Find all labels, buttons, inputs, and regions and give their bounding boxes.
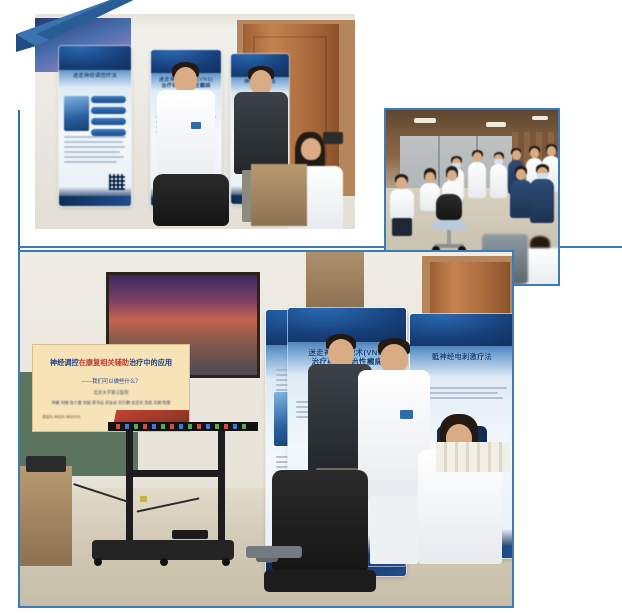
side-desk bbox=[251, 164, 307, 226]
camera-phone bbox=[323, 132, 343, 144]
presentation-slide: 神经调控在康复相关辅助治疗中的应用 ——我们可以做些什么？ 北京大学第三医院 申… bbox=[32, 344, 190, 432]
office-chair-top bbox=[153, 174, 229, 229]
person-standing-3 bbox=[490, 152, 507, 214]
chair-base-foreground bbox=[246, 546, 302, 558]
collage-canvas: 迷走神经调控疗法 迷走神经刺激术(VNS) 治疗药物难治性癫痫 bbox=[0, 0, 622, 613]
person-seated-scrub-2 bbox=[530, 164, 554, 236]
photo-speakers-with-banners: 迷走神经调控疗法 迷走神经刺激术(VNS) 治疗药物难治性癫痫 bbox=[35, 14, 355, 229]
person-seated-left bbox=[390, 174, 414, 236]
caster-right bbox=[222, 558, 230, 566]
tv-stand-base bbox=[92, 540, 234, 560]
tv-stand-shelf bbox=[126, 470, 225, 477]
left-vertical-rule bbox=[18, 110, 20, 252]
laptop[interactable] bbox=[26, 456, 66, 472]
side-table bbox=[20, 466, 72, 566]
caster-left bbox=[94, 558, 102, 566]
caster-mid bbox=[160, 558, 168, 566]
tv-stand-post-left bbox=[126, 431, 133, 545]
cable-connector bbox=[140, 496, 147, 502]
wall-cabinet bbox=[306, 252, 364, 316]
display-toolbar-icons[interactable] bbox=[116, 424, 250, 429]
person-attendee-white-coat bbox=[418, 414, 504, 564]
photo-lecture-room-wide: 神经调控在康复相关辅助治疗中的应用 ——我们可以做些什么？ 北京大学第三医院 申… bbox=[18, 250, 514, 608]
office-chair-foreground bbox=[264, 470, 376, 606]
shelf-papers bbox=[436, 442, 510, 472]
person-standing-2 bbox=[468, 150, 486, 214]
banner-1: 迷走神经调控疗法 bbox=[59, 46, 131, 206]
tv-stand-post-right bbox=[218, 431, 225, 545]
office-chair-inset bbox=[432, 194, 466, 256]
power-strip bbox=[172, 530, 208, 539]
person-seated-scrub-1 bbox=[510, 166, 532, 228]
